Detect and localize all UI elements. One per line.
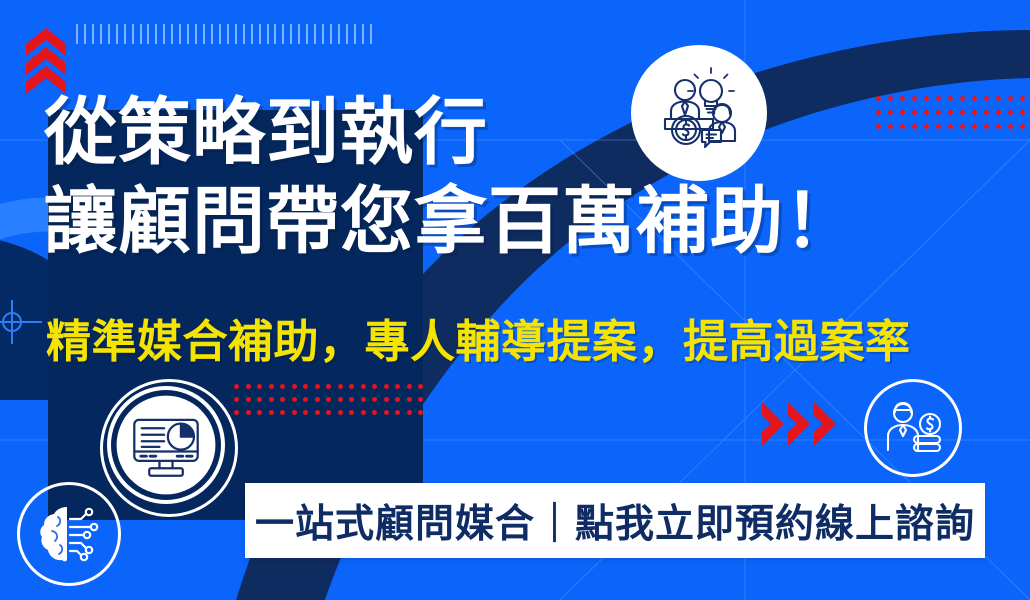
dot	[395, 384, 400, 389]
dot	[1008, 96, 1013, 101]
dot	[876, 124, 881, 129]
dot	[960, 96, 965, 101]
tick-marks-decor	[76, 24, 372, 44]
dot	[303, 397, 308, 402]
ai-brain-icon	[17, 482, 121, 586]
dot-grid-mid-left	[234, 384, 414, 420]
dot	[407, 410, 412, 415]
dot	[315, 410, 320, 415]
dot	[972, 110, 977, 115]
dot	[372, 397, 377, 402]
advisor-money-icon	[864, 379, 962, 477]
dot	[326, 410, 331, 415]
dot	[326, 384, 331, 389]
dot	[269, 410, 274, 415]
dot	[888, 96, 893, 101]
dot	[315, 384, 320, 389]
dot	[960, 110, 965, 115]
dot	[948, 110, 953, 115]
dot	[1020, 96, 1025, 101]
headline-line-1: 從策略到執行	[44, 96, 858, 169]
dot	[936, 110, 941, 115]
cta-label: 一站式顧問媒合｜點我立即預約線上諮詢	[255, 493, 975, 549]
dot	[384, 384, 389, 389]
dot	[418, 410, 423, 415]
dot	[1020, 110, 1025, 115]
dot	[234, 410, 239, 415]
dot	[924, 110, 929, 115]
dot	[876, 96, 881, 101]
dot	[948, 124, 953, 129]
dot	[269, 384, 274, 389]
dot	[876, 110, 881, 115]
dot	[361, 384, 366, 389]
dot	[257, 397, 262, 402]
dot	[303, 410, 308, 415]
chevron-up-icon	[26, 28, 66, 94]
dot	[407, 397, 412, 402]
dot	[234, 397, 239, 402]
dot	[418, 397, 423, 402]
dot	[349, 384, 354, 389]
dot	[361, 397, 366, 402]
cta-button[interactable]: 一站式顧問媒合｜點我立即預約線上諮詢	[245, 483, 985, 558]
dot	[257, 384, 262, 389]
dot	[338, 410, 343, 415]
dot-grid-top-right	[876, 96, 1026, 136]
dashboard-chart-icon	[107, 386, 225, 504]
dot	[372, 384, 377, 389]
dot	[912, 96, 917, 101]
dot	[246, 410, 251, 415]
headline-block: 從策略到執行 讓顧問帶您拿百萬補助！	[44, 96, 858, 258]
dot	[900, 124, 905, 129]
dot	[996, 96, 1001, 101]
dot	[924, 96, 929, 101]
dot	[984, 96, 989, 101]
dot	[936, 124, 941, 129]
dot	[912, 124, 917, 129]
dot	[234, 384, 239, 389]
dot	[280, 397, 285, 402]
dot	[900, 96, 905, 101]
dot	[361, 410, 366, 415]
dot	[948, 96, 953, 101]
dot	[936, 96, 941, 101]
dot	[1020, 124, 1025, 129]
dot	[269, 397, 274, 402]
promo-banner: 從策略到執行 讓顧問帶您拿百萬補助！ 精準媒合補助，專人輔導提案，提高過案率 一…	[0, 0, 1030, 600]
chevron-right-icon	[760, 402, 840, 446]
dot	[246, 397, 251, 402]
dot	[292, 410, 297, 415]
dot	[960, 124, 965, 129]
dot	[280, 384, 285, 389]
dot	[384, 410, 389, 415]
dot	[246, 384, 251, 389]
dot	[912, 110, 917, 115]
dot	[292, 397, 297, 402]
dot	[395, 410, 400, 415]
dot	[303, 384, 308, 389]
dot	[395, 397, 400, 402]
dot	[349, 410, 354, 415]
dot	[924, 124, 929, 129]
dot	[984, 110, 989, 115]
subheadline: 精準媒合補助，專人輔導提案，提高過案率	[46, 305, 911, 370]
dot	[349, 397, 354, 402]
dot	[326, 397, 331, 402]
headline-line-2: 讓顧問帶您拿百萬補助！	[44, 185, 858, 258]
dot	[292, 384, 297, 389]
dot	[315, 397, 320, 402]
dot	[384, 397, 389, 402]
dot	[280, 410, 285, 415]
dot	[888, 124, 893, 129]
dot	[888, 110, 893, 115]
dot	[338, 397, 343, 402]
dot	[257, 410, 262, 415]
dot	[1008, 124, 1013, 129]
dot	[996, 124, 1001, 129]
dot	[407, 384, 412, 389]
dot	[972, 96, 977, 101]
dot	[338, 384, 343, 389]
dot	[972, 124, 977, 129]
dot	[984, 124, 989, 129]
dot	[1008, 110, 1013, 115]
dot	[900, 110, 905, 115]
dot	[996, 110, 1001, 115]
dot	[372, 410, 377, 415]
dot	[418, 384, 423, 389]
